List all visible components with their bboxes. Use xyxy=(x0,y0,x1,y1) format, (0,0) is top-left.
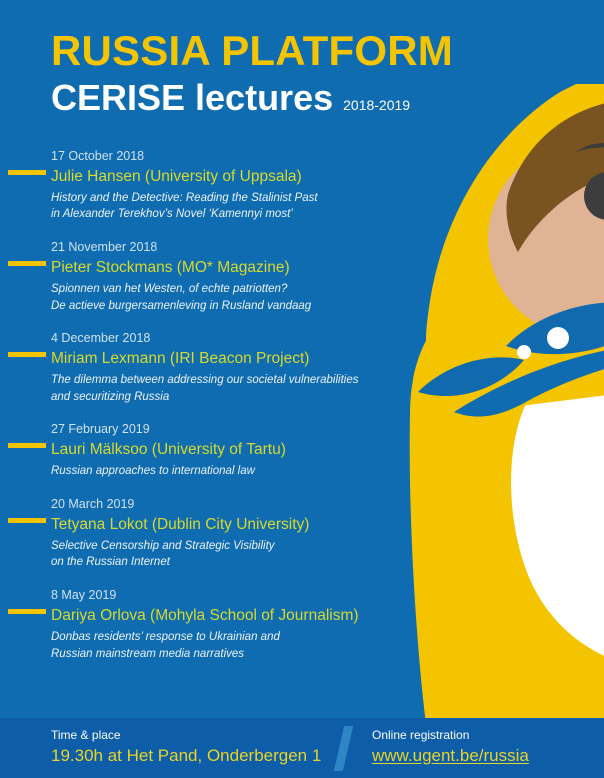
registration-block: Online registration www.ugent.be/russia xyxy=(372,728,529,766)
doll-body-shape xyxy=(410,284,604,724)
list-item: 17 October 2018 Julie Hansen (University… xyxy=(0,148,420,223)
doll-leaf-decoration-3 xyxy=(596,288,604,346)
subtitle-row: CERISE lectures 2018-2019 xyxy=(51,80,471,116)
academic-year-label: 2018-2019 xyxy=(343,97,410,113)
dash-marker-icon xyxy=(8,443,46,448)
lecture-date: 17 October 2018 xyxy=(51,148,420,165)
list-item: 4 December 2018 Miriam Lexmann (IRI Beac… xyxy=(0,330,420,405)
lecture-speaker: Miriam Lexmann (IRI Beacon Project) xyxy=(51,349,420,370)
lecture-list: 17 October 2018 Julie Hansen (University… xyxy=(0,148,420,678)
doll-headscarf xyxy=(426,84,604,420)
matryoshka-doll-illustration xyxy=(396,84,604,724)
list-item: 21 November 2018 Pieter Stockmans (MO* M… xyxy=(0,239,420,314)
doll-scarf-edge xyxy=(454,340,604,417)
lecture-date: 20 March 2019 xyxy=(51,496,420,513)
doll-apron xyxy=(511,380,604,676)
lecture-title-line1: History and the Detective: Reading the S… xyxy=(51,190,420,207)
lecture-title-line1: Donbas residents’ response to Ukrainian … xyxy=(51,629,420,646)
registration-label: Online registration xyxy=(372,728,529,744)
poster-header: RUSSIA PLATFORM CERISE lectures 2018-201… xyxy=(51,30,471,116)
doll-face xyxy=(488,141,604,337)
time-place-label: Time & place xyxy=(51,728,321,744)
list-item: 20 March 2019 Tetyana Lokot (Dublin City… xyxy=(0,496,420,571)
lecture-speaker: Tetyana Lokot (Dublin City University) xyxy=(51,515,420,536)
lecture-date: 21 November 2018 xyxy=(51,239,420,256)
lecture-title-line1: Selective Censorship and Strategic Visib… xyxy=(51,538,420,555)
doll-eye xyxy=(584,172,604,220)
registration-link[interactable]: www.ugent.be/russia xyxy=(372,745,529,766)
doll-eyebrow xyxy=(576,143,604,152)
lecture-speaker: Lauri Mälksoo (University of Tartu) xyxy=(51,440,420,461)
dash-marker-icon xyxy=(8,518,46,523)
lecture-speaker: Julie Hansen (University of Uppsala) xyxy=(51,167,420,188)
lecture-title-line1: Spionnen van het Westen, of echte patrio… xyxy=(51,281,420,298)
page-title: RUSSIA PLATFORM xyxy=(51,30,471,72)
dash-marker-icon xyxy=(8,261,46,266)
dash-marker-icon xyxy=(8,170,46,175)
lecture-title-line2: on the Russian Internet xyxy=(51,554,420,571)
slash-divider-icon xyxy=(334,726,353,771)
poster: RUSSIA PLATFORM CERISE lectures 2018-201… xyxy=(0,0,604,778)
time-place-value: 19.30h at Het Pand, Onderbergen 1 xyxy=(51,745,321,766)
lecture-date: 27 February 2019 xyxy=(51,421,420,438)
doll-leaf-decoration-2 xyxy=(506,302,604,359)
lecture-date: 8 May 2019 xyxy=(51,587,420,604)
lecture-title-line2: in Alexander Terekhov’s Novel ‘Kamennyi … xyxy=(51,206,420,223)
poster-footer: Time & place 19.30h at Het Pand, Onderbe… xyxy=(0,718,604,778)
doll-leaf-decoration-1 xyxy=(418,357,524,396)
doll-headscarf-body xyxy=(426,90,604,414)
dash-marker-icon xyxy=(8,609,46,614)
lecture-title-line1: Russian approaches to international law xyxy=(51,463,420,480)
lecture-speaker: Pieter Stockmans (MO* Magazine) xyxy=(51,258,420,279)
lecture-title-line2: De actieve burgersamenleving in Rusland … xyxy=(51,298,420,315)
lecture-title-line2: Russian mainstream media narratives xyxy=(51,646,420,663)
list-item: 8 May 2019 Dariya Orlova (Mohyla School … xyxy=(0,587,420,662)
lecture-title-line1: The dilemma between addressing our socie… xyxy=(51,372,420,389)
page-subtitle: CERISE lectures xyxy=(51,80,333,116)
doll-hair xyxy=(506,98,604,252)
dash-marker-icon xyxy=(8,352,46,357)
lecture-speaker: Dariya Orlova (Mohyla School of Journali… xyxy=(51,606,420,627)
time-and-place-block: Time & place 19.30h at Het Pand, Onderbe… xyxy=(51,728,321,766)
list-item: 27 February 2019 Lauri Mälksoo (Universi… xyxy=(0,421,420,479)
lecture-title-line2: and securitizing Russia xyxy=(51,389,420,406)
lecture-date: 4 December 2018 xyxy=(51,330,420,347)
